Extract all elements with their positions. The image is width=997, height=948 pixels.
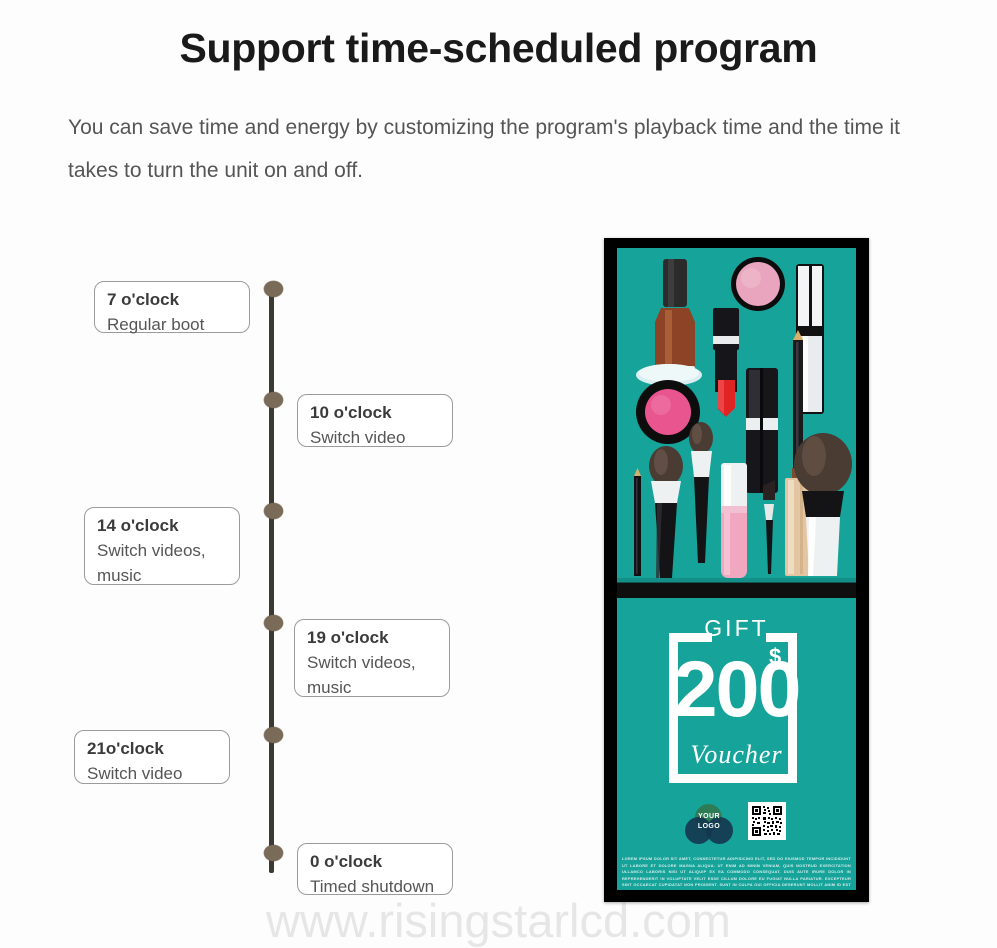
lip-gloss-pink-icon (721, 463, 747, 578)
powder-compact-pink-icon (731, 257, 785, 311)
timeline-node-1-action: Regular boot (107, 312, 237, 337)
digital-signage-display: GIFT 200 $ Voucher YOUR LOGO (604, 238, 869, 902)
logo-line-1: YOUR (698, 813, 720, 820)
timeline-axis-line (269, 289, 274, 873)
timeline-node-3[interactable]: 14 o'clock Switch videos, music (84, 507, 240, 585)
timeline-dot-5[interactable] (264, 727, 283, 743)
timeline-node-4-action: Switch videos, music (307, 650, 427, 700)
lipstick-black-icon (746, 368, 778, 493)
timeline-dot-4[interactable] (264, 615, 283, 631)
timeline-node-1[interactable]: 7 o'clock Regular boot (94, 281, 250, 333)
signage-products-photo (617, 248, 856, 598)
voucher-logo-placeholder: YOUR LOGO (685, 804, 733, 844)
timeline-node-3-time: 14 o'clock (97, 514, 227, 538)
timeline-node-3-action: Switch videos, music (97, 538, 217, 588)
timeline-dot-6[interactable] (264, 845, 283, 861)
logo-line-2: LOGO (698, 823, 720, 830)
voucher-gift-label: GIFT (617, 615, 856, 642)
timeline-dot-3[interactable] (264, 503, 283, 519)
logo-text: YOUR LOGO (685, 812, 733, 832)
timeline-node-5[interactable]: 21o'clock Switch video (74, 730, 230, 784)
timeline-node-6-action: Timed shutdown (310, 874, 440, 899)
timeline-node-5-time: 21o'clock (87, 737, 217, 761)
voucher-fineprint: LOREM IPSUM DOLOR SIT AMET, CONSECTETUR … (622, 856, 851, 886)
timeline-node-5-action: Switch video (87, 761, 217, 786)
schedule-timeline: 7 o'clock Regular boot 10 o'clock Switch… (0, 0, 560, 948)
timeline-node-2[interactable]: 10 o'clock Switch video (297, 394, 453, 447)
timeline-dot-1[interactable] (264, 281, 283, 297)
eye-pencil-thin-icon (634, 468, 641, 576)
timeline-node-6-time: 0 o'clock (310, 850, 440, 874)
signage-screen: GIFT 200 $ Voucher YOUR LOGO (617, 248, 856, 890)
signage-voucher-panel: GIFT 200 $ Voucher YOUR LOGO (617, 600, 856, 890)
timeline-node-4-time: 19 o'clock (307, 626, 437, 650)
qr-code-icon[interactable] (748, 802, 786, 840)
timeline-node-1-time: 7 o'clock (107, 288, 237, 312)
cosmetics-illustration (617, 248, 856, 598)
timeline-node-4[interactable]: 19 o'clock Switch videos, music (294, 619, 450, 697)
timeline-dot-2[interactable] (264, 392, 283, 408)
timeline-node-2-action: Switch video (310, 425, 440, 450)
timeline-node-6[interactable]: 0 o'clock Timed shutdown (297, 843, 453, 895)
timeline-node-2-time: 10 o'clock (310, 401, 440, 425)
voucher-amount: 200 (617, 648, 856, 730)
voucher-label: Voucher (617, 740, 856, 770)
voucher-currency-symbol: $ (769, 644, 781, 670)
